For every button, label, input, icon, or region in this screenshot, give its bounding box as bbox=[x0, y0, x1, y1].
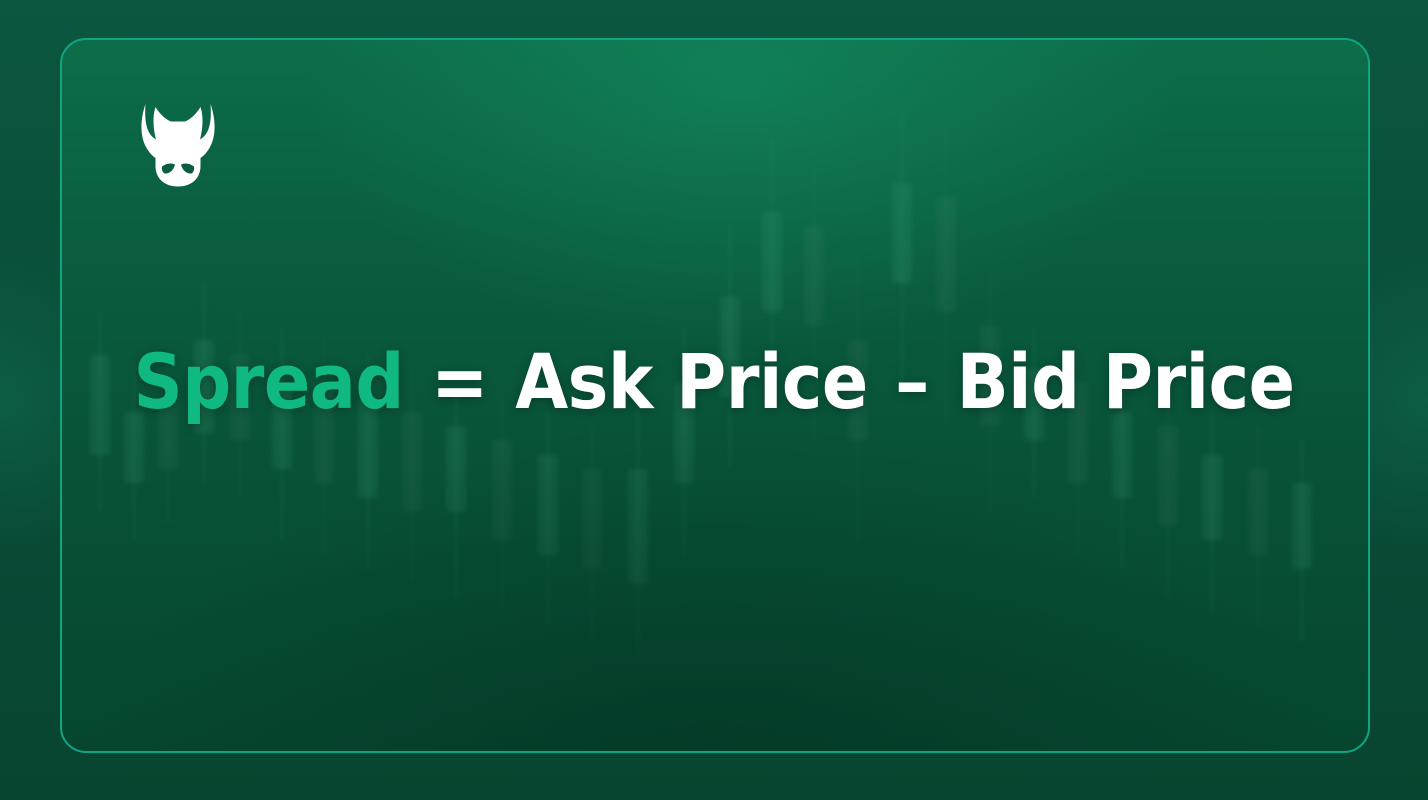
candlestick-body bbox=[402, 412, 422, 512]
bull-head-logo bbox=[140, 100, 216, 192]
candlestick-body bbox=[1158, 426, 1178, 526]
page-background: Spread = Ask Price – Bid Price bbox=[0, 0, 1428, 800]
candlestick-body bbox=[762, 212, 782, 312]
candlestick-wick bbox=[1211, 412, 1213, 612]
candlestick-body bbox=[1202, 455, 1222, 541]
candlestick-body bbox=[1292, 483, 1312, 569]
candlestick-wick bbox=[1257, 426, 1259, 626]
candlestick-body bbox=[538, 455, 558, 555]
candlestick-body bbox=[582, 469, 602, 569]
candlestick-body bbox=[628, 469, 648, 583]
candlestick-wick bbox=[591, 426, 593, 641]
headline-term: Spread bbox=[133, 337, 403, 426]
candlestick-wick bbox=[637, 398, 639, 655]
candlestick-wick bbox=[501, 398, 503, 613]
candlestick-wick bbox=[547, 412, 549, 627]
candlestick-body bbox=[446, 426, 466, 512]
candlestick-body bbox=[492, 440, 512, 540]
headline-formula: Spread = Ask Price – Bid Price bbox=[0, 344, 1428, 420]
headline-equals-sign: = bbox=[431, 337, 488, 426]
headline-left-operand: Ask Price bbox=[515, 337, 868, 426]
candlestick-body bbox=[1248, 469, 1268, 555]
candlestick-body bbox=[804, 226, 824, 326]
candlestick-body bbox=[936, 197, 956, 311]
candlestick-wick bbox=[1301, 440, 1303, 640]
headline-minus-sign: – bbox=[895, 337, 929, 426]
candlestick-body bbox=[892, 183, 912, 283]
headline-right-operand: Bid Price bbox=[957, 337, 1295, 426]
